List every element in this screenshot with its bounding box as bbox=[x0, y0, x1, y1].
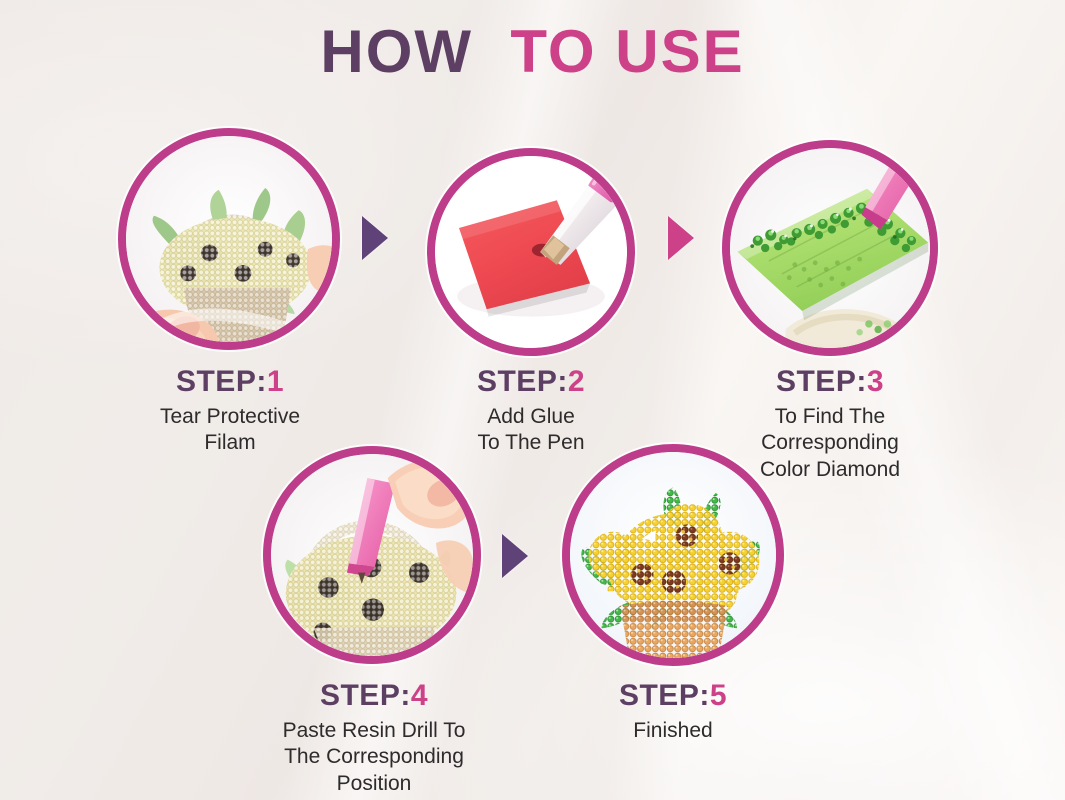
step-2-image bbox=[427, 148, 635, 356]
step-2-heading: STEP:2 bbox=[411, 366, 651, 398]
arrow-step1-to-step2 bbox=[362, 216, 388, 260]
step-1-image-inner bbox=[126, 136, 332, 342]
step-4-number: 4 bbox=[411, 679, 428, 712]
page-title: HOW TO USE bbox=[0, 22, 1065, 82]
step-1-label: STEP: bbox=[176, 365, 267, 398]
step-4-label: STEP: bbox=[320, 679, 411, 712]
step-5-heading: STEP:5 bbox=[553, 680, 793, 712]
step-5-number: 5 bbox=[710, 679, 727, 712]
step-2-caption: STEP:2 Add Glue To The Pen bbox=[411, 366, 651, 457]
step-3-number: 3 bbox=[867, 365, 884, 398]
step-1-heading: STEP:1 bbox=[100, 366, 360, 398]
step-3-image-inner bbox=[730, 148, 930, 348]
step-2-description-line-1: Add Glue bbox=[411, 404, 651, 431]
step-1-caption: STEP:1 Tear Protective Filam bbox=[100, 366, 360, 457]
step-4-image-inner bbox=[271, 454, 473, 656]
step-2-number: 2 bbox=[568, 365, 585, 398]
step-5-description-line-1: Finished bbox=[553, 718, 793, 745]
step-4-description-line-3: Position bbox=[243, 771, 505, 798]
arrow-step4-to-step5 bbox=[502, 534, 528, 578]
page-title-word-to-use: TO USE bbox=[510, 18, 744, 85]
step-3-description-line-3: Color Diamond bbox=[705, 457, 955, 484]
step-4-description: Paste Resin Drill To The Corresponding P… bbox=[243, 718, 505, 799]
step-1-image bbox=[118, 128, 340, 350]
page-title-word-how: HOW bbox=[320, 18, 473, 85]
step-4-heading: STEP:4 bbox=[243, 680, 505, 712]
step-5-description: Finished bbox=[553, 718, 793, 745]
step-1-description-line-1: Tear Protective bbox=[100, 404, 360, 431]
step-3-image bbox=[722, 140, 938, 356]
hand-pasting-drill-illustration bbox=[271, 454, 473, 656]
step-4-description-line-2: The Corresponding bbox=[243, 744, 505, 771]
step-4-caption: STEP:4 Paste Resin Drill To The Correspo… bbox=[243, 680, 505, 798]
step-2-description: Add Glue To The Pen bbox=[411, 404, 651, 458]
step-4-description-line-1: Paste Resin Drill To bbox=[243, 718, 505, 745]
arrow-step2-to-step3 bbox=[668, 216, 694, 260]
step-2-label: STEP: bbox=[477, 365, 568, 398]
step-5-caption: STEP:5 Finished bbox=[553, 680, 793, 744]
step-3-description-line-2: Corresponding bbox=[705, 430, 955, 457]
how-to-use-poster: HOW TO USE bbox=[0, 0, 1065, 800]
step-1-description-line-2: Filam bbox=[100, 430, 360, 457]
pen-dipping-glue-illustration bbox=[435, 156, 627, 348]
step-5-label: STEP: bbox=[619, 679, 710, 712]
step-2-image-inner bbox=[435, 156, 627, 348]
step-1-number: 1 bbox=[267, 365, 284, 398]
step-2-description-line-2: To The Pen bbox=[411, 430, 651, 457]
step-3-description: To Find The Corresponding Color Diamond bbox=[705, 404, 955, 485]
hand-peeling-film-illustration bbox=[126, 136, 332, 342]
step-3-heading: STEP:3 bbox=[705, 366, 955, 398]
step-3-label: STEP: bbox=[776, 365, 867, 398]
green-tray-with-diamonds-illustration bbox=[730, 148, 930, 348]
step-3-description-line-1: To Find The bbox=[705, 404, 955, 431]
step-3-caption: STEP:3 To Find The Corresponding Color D… bbox=[705, 366, 955, 484]
step-1-description: Tear Protective Filam bbox=[100, 404, 360, 458]
step-4-image bbox=[263, 446, 481, 664]
